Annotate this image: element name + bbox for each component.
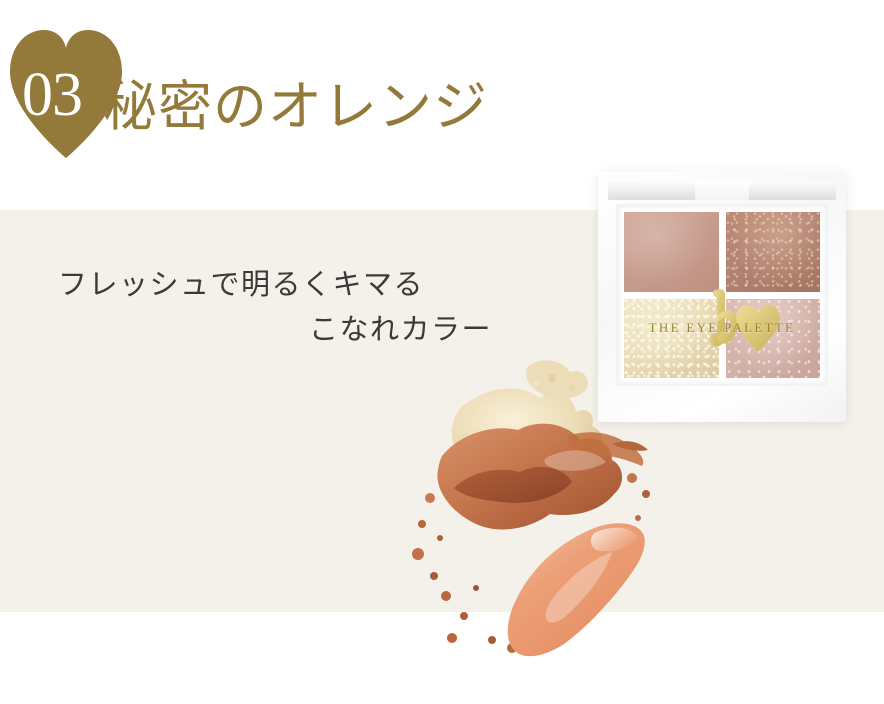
- palette-pan-top-left: [624, 212, 719, 292]
- page-title: 秘密のオレンジ: [103, 78, 488, 136]
- palette-pan-top-right: [726, 212, 821, 292]
- eyeshadow-palette-product: THE EYE PALETTE: [598, 172, 846, 422]
- subtitle-line-2: こなれカラー: [58, 307, 498, 352]
- heading-block: 03 秘密のオレンジ: [0, 22, 560, 162]
- promo-banner: 03 秘密のオレンジ フレッシュで明るくキマる こなれカラー: [0, 0, 884, 704]
- palette-pan-bottom-left: [624, 299, 719, 379]
- palette-pan-tray: THE EYE PALETTE: [616, 204, 828, 386]
- palette-lid-edge: [608, 181, 836, 200]
- palette-pans-grid: [624, 212, 820, 378]
- product-name-label: THE EYE PALETTE: [618, 320, 826, 336]
- subtitle-line-1: フレッシュで明るくキマる: [58, 262, 498, 307]
- palette-pan-bottom-right: [726, 299, 821, 379]
- subtitle-block: フレッシュで明るくキマる こなれカラー: [58, 262, 498, 352]
